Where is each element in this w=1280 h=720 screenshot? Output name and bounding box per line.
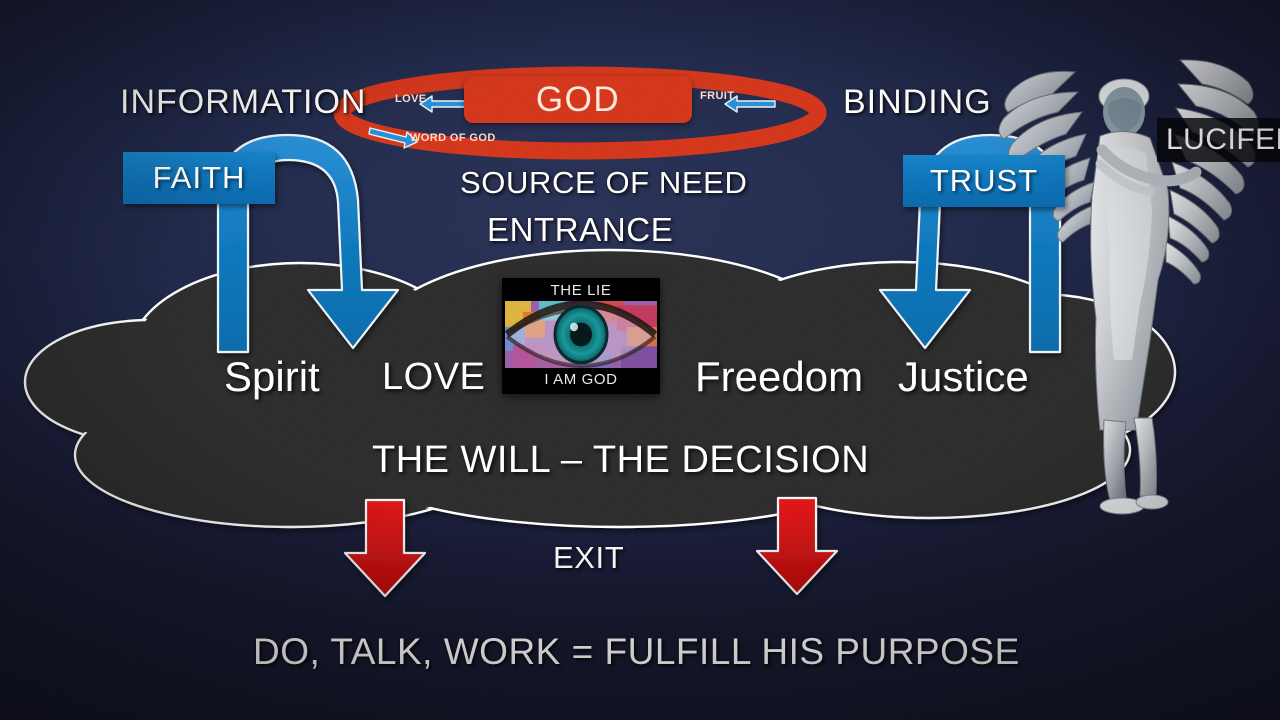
bottom-statement: DO, TALK, WORK = FULFILL HIS PURPOSE <box>253 631 1020 673</box>
lucifer-label-box: LUCIFER <box>1157 118 1280 162</box>
ring-label-word-of-god: WORD OF GOD <box>410 132 496 144</box>
trust-label-box: TRUST <box>903 155 1065 207</box>
the-lie-card: THE LIE <box>502 278 660 394</box>
ring-label-fruit: FRUIT <box>700 90 734 102</box>
heading-information: INFORMATION <box>120 83 366 122</box>
cloud-word-justice: Justice <box>898 353 1029 401</box>
cloud-word-love: LOVE <box>382 356 485 399</box>
ring-label-love: LOVE <box>395 93 427 105</box>
faith-label-text: FAITH <box>153 160 246 196</box>
heading-entrance: ENTRANCE <box>487 211 673 249</box>
cloud-word-freedom: Freedom <box>695 353 863 401</box>
eye-image <box>505 301 657 368</box>
slide-canvas: GOD LOVE WORD OF GOD FRUIT INFORMATION B… <box>0 0 1280 720</box>
the-lie-bottom-caption: I AM GOD <box>502 368 660 394</box>
trust-label-text: TRUST <box>930 163 1038 199</box>
heading-exit: EXIT <box>553 540 624 576</box>
god-label-text: GOD <box>536 80 620 120</box>
heading-source-of-need: SOURCE OF NEED <box>460 165 747 201</box>
faith-label-box: FAITH <box>123 152 275 204</box>
cloud-word-spirit: Spirit <box>224 353 320 401</box>
god-label: GOD <box>464 76 692 123</box>
cloud-word-the-will-the-decision: THE WILL – THE DECISION <box>372 439 869 482</box>
the-lie-top-caption: THE LIE <box>502 278 660 301</box>
ring-left-arrow-icon <box>420 96 470 112</box>
lucifer-label-text: LUCIFER <box>1166 123 1280 157</box>
heading-binding: BINDING <box>843 83 992 122</box>
